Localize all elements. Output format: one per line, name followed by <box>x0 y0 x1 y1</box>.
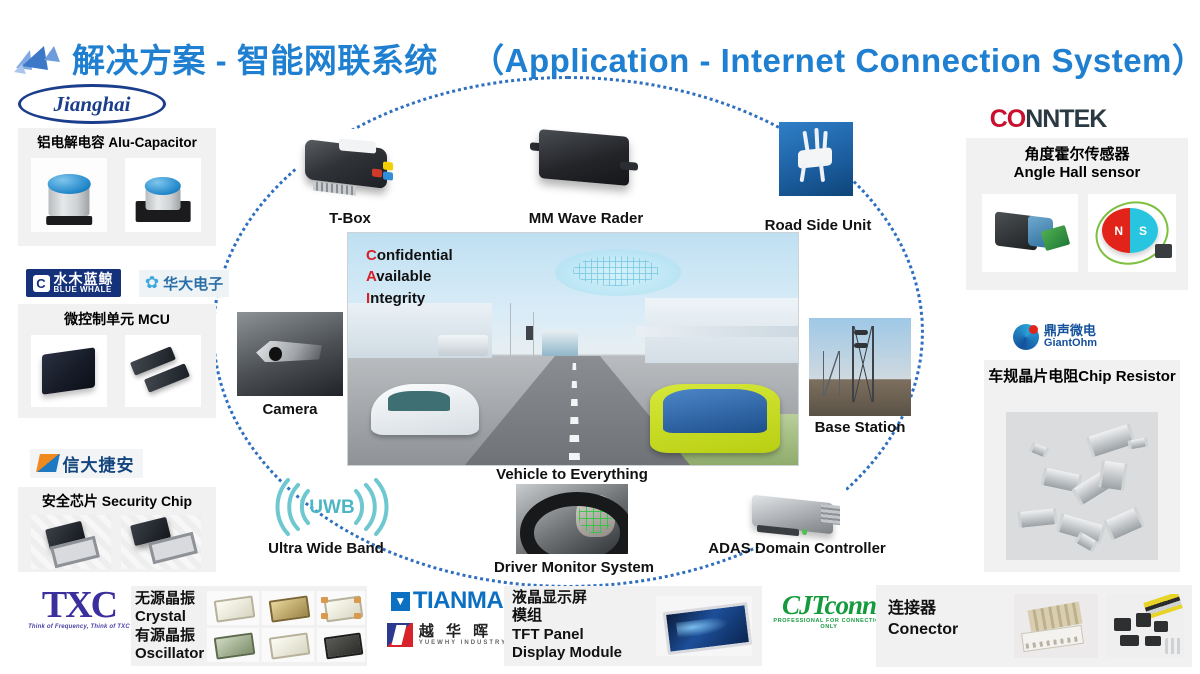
security-chip-photo-1 <box>31 515 111 569</box>
alu-capacitor-photo-1 <box>31 158 107 232</box>
driver-monitor-system-photo <box>516 484 628 554</box>
xindajiean-logo-text: 信大捷安 <box>63 451 135 476</box>
xindajiean-logo: 信大捷安 <box>16 448 156 478</box>
page-title-english: （Application - Internet Connection Syste… <box>471 42 1200 79</box>
panel-alu-capacitor: 铝电解电容 Alu-Capacitor <box>18 128 216 246</box>
page-title: 解决方案 - 智能网联系统 （Application - Internet Co… <box>72 34 1200 82</box>
conntek-logo-red: CO <box>990 105 1026 134</box>
oscillator-photo-3 <box>317 628 365 662</box>
cai-initial-a: A <box>366 268 376 285</box>
crystal-title-line-2: Crystal <box>135 608 207 626</box>
road-side-unit-photo <box>779 122 853 196</box>
adas-domain-controller-label: ADAS Domain Controller <box>700 540 894 557</box>
alu-capacitor-photo-2 <box>125 158 201 232</box>
camera-label: Camera <box>240 401 340 418</box>
panel-tft-display: 液晶显示屏 模组 TFT Panel Display Module <box>504 586 762 666</box>
panel-chip-resistor-title: 车规晶片电阻Chip Resistor <box>984 360 1180 386</box>
oscillator-photo-2 <box>262 628 314 662</box>
page-title-chinese: 解决方案 - 智能网联系统 <box>72 42 438 79</box>
crystal-title-line-4: Oscillator <box>135 645 207 663</box>
mcu-chip-photo-1 <box>31 335 107 407</box>
txc-logo: TXC Think of Frequency, Think of TXC <box>24 588 134 628</box>
cai-rest-c: onfidential <box>377 247 453 264</box>
huada-electronics-logo: ✿ 华大电子 <box>138 270 230 296</box>
base-station-label: Base Station <box>802 419 918 436</box>
base-station-photo <box>809 318 911 416</box>
conntek-logo-dark: NNTEK <box>1025 105 1106 134</box>
panel-hall-title-en: Angle Hall sensor <box>966 164 1188 182</box>
blue-whale-mark-icon: C <box>33 275 50 292</box>
crystal-photo-2 <box>262 591 314 625</box>
crystal-photo-3 <box>317 591 365 625</box>
uwb-icon: UWB <box>272 477 392 537</box>
camera-photo <box>237 312 343 396</box>
yuewhy-logo: 越 华 晖 YUEWHY INDUSTRY <box>382 620 512 650</box>
cjtconn-logo-tagline: PROFESSIONAL FOR CONNECTION ONLY <box>768 619 890 630</box>
crystal-title-line-3: 有源晶振 <box>135 627 207 645</box>
crystal-photo-1 <box>207 591 259 625</box>
cjtconn-logo: CJTconn PROFESSIONAL FOR CONNECTION ONLY <box>768 593 890 629</box>
driver-monitor-system-label: Driver Monitor System <box>486 559 662 576</box>
jianghai-logo-text: Jianghai <box>18 84 166 124</box>
huada-logo-text: 华大电子 <box>163 273 223 294</box>
yuewhy-logo-en: YUEWHY INDUSTRY <box>419 640 507 646</box>
txc-logo-text: TXC <box>28 586 130 624</box>
cai-rest-i: ntegrity <box>370 290 425 307</box>
crystal-title-line-1: 无源晶振 <box>135 590 207 608</box>
hall-magnet-diagram: NS <box>1088 194 1176 272</box>
giantohm-logo: 鼎声微电 GiantOhm <box>980 322 1130 352</box>
cjtconn-logo-text: CJTconn <box>768 592 890 619</box>
tft-title-line-1: 液晶显示屏 <box>512 589 622 607</box>
huada-star-icon: ✿ <box>145 273 159 293</box>
vehicle-to-everything-label: Vehicle to Everything <box>472 466 672 483</box>
tianma-mark-icon: ▼ <box>391 592 410 611</box>
vehicle-to-everything-photo: Confidential Available Integrity <box>347 232 799 466</box>
tianma-logo: ▼ TIANMA <box>382 587 512 615</box>
page-header: 解决方案 - 智能网联系统 （Application - Internet Co… <box>0 18 1200 74</box>
tft-title-line-3: TFT Panel <box>512 626 622 644</box>
connector-photo-1 <box>1014 594 1098 658</box>
txc-logo-tagline: Think of Frequency, Think of TXC <box>28 624 130 630</box>
yuewhy-logo-cn: 越 华 晖 <box>419 624 507 640</box>
giantohm-logo-cn: 鼎声微电 <box>1044 324 1097 338</box>
panel-mcu: 微控制单元 MCU <box>18 304 216 418</box>
triangles-arrow-icon <box>14 38 70 78</box>
panel-connector: 连接器 Conector <box>876 585 1192 667</box>
chip-resistor-photo <box>1006 412 1158 560</box>
ultra-wide-band-label: Ultra Wide Band <box>252 540 400 557</box>
adas-domain-controller-photo <box>742 485 846 547</box>
cai-initial-c: C <box>366 247 377 264</box>
cai-overlay: Confidential Available Integrity <box>366 245 453 310</box>
panel-mcu-title: 微控制单元 MCU <box>18 304 216 328</box>
mm-wave-radar-label: MM Wave Rader <box>506 210 666 227</box>
tft-title-line-2: 模组 <box>512 607 622 625</box>
tft-title-line-4: Display Module <box>512 644 622 662</box>
svg-text:UWB: UWB <box>309 497 354 518</box>
panel-alu-capacitor-title: 铝电解电容 Alu-Capacitor <box>18 128 216 151</box>
tft-panel-photo <box>656 596 752 656</box>
security-chip-photo-2 <box>121 515 201 569</box>
panel-security-chip: 安全芯片 Security Chip <box>18 487 216 572</box>
hall-sensor-motor-photo <box>982 194 1078 272</box>
oscillator-photo-1 <box>207 628 259 662</box>
panel-angle-hall-sensor: 角度霍尔传感器 Angle Hall sensor NS <box>966 138 1188 290</box>
blue-whale-logo: C 水木蓝鲸 BLUE WHALE <box>14 268 132 298</box>
mcu-chip-photo-2 <box>125 335 201 407</box>
mm-wave-radar-photo <box>528 118 640 202</box>
blue-whale-logo-cn: 水木蓝鲸 <box>54 272 114 286</box>
connector-photo-2 <box>1106 594 1184 658</box>
xindajiean-mark-icon <box>36 454 60 472</box>
t-box-label: T-Box <box>276 210 424 227</box>
panel-security-chip-title: 安全芯片 Security Chip <box>18 487 216 510</box>
panel-chip-resistor: 车规晶片电阻Chip Resistor <box>984 360 1180 572</box>
giantohm-mark-icon <box>1013 324 1039 350</box>
giantohm-logo-en: GiantOhm <box>1044 338 1097 350</box>
panel-hall-title-cn: 角度霍尔传感器 <box>966 138 1188 164</box>
panel-crystal-oscillator: 无源晶振 Crystal 有源晶振 Oscillator <box>131 586 367 666</box>
blue-whale-logo-en: BLUE WHALE <box>54 286 114 294</box>
conntek-logo: CONNTEK <box>978 104 1118 134</box>
jianghai-logo: Jianghai <box>18 86 166 122</box>
t-box-photo <box>296 129 404 205</box>
connector-title-line-2: Conector <box>888 620 958 641</box>
connector-title-line-1: 连接器 <box>888 599 958 620</box>
yuewhy-mark-icon <box>387 623 413 647</box>
cai-rest-a: vailable <box>376 268 431 285</box>
tianma-logo-text: TIANMA <box>413 587 503 615</box>
